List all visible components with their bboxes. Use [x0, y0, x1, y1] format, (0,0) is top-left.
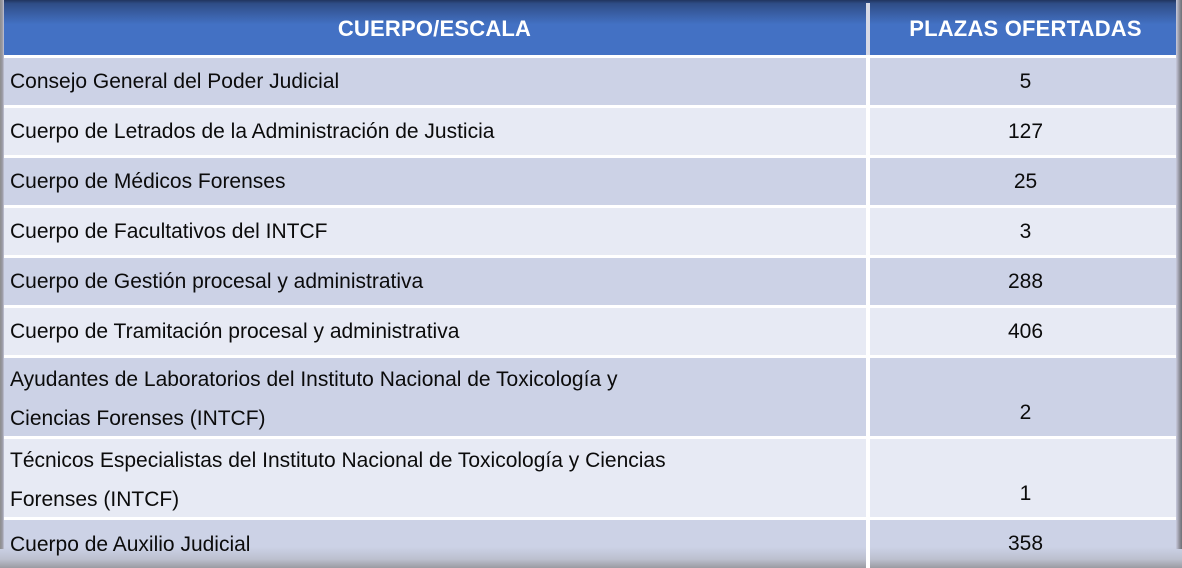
cell-text-line: Cuerpo de Letrados de la Administración … — [10, 112, 861, 152]
row-column-divider — [866, 520, 870, 568]
cell-plazas-ofertadas: 288 — [869, 258, 1182, 305]
plazas-table: CUERPO/ESCALA PLAZAS OFERTADAS Consejo G… — [0, 0, 1182, 549]
cell-plazas-ofertadas: 406 — [869, 308, 1182, 355]
cell-cuerpo-escala: Cuerpo de Médicos Forenses — [0, 158, 869, 205]
cell-plazas-ofertadas: 1 — [869, 439, 1182, 517]
table-container: CUERPO/ESCALA PLAZAS OFERTADAS Consejo G… — [0, 0, 1182, 568]
cell-plazas-ofertadas: 127 — [869, 108, 1182, 155]
cell-text-line: Consejo General del Poder Judicial — [10, 62, 861, 102]
cell-plazas-ofertadas: 25 — [869, 158, 1182, 205]
table-row[interactable]: Técnicos Especialistas del Instituto Nac… — [0, 439, 1182, 520]
row-column-divider — [866, 308, 870, 355]
cell-cuerpo-escala: Cuerpo de Letrados de la Administración … — [0, 108, 869, 155]
table-row[interactable]: Cuerpo de Facultativos del INTCF3 — [0, 208, 1182, 258]
cell-text-line: Forenses (INTCF) — [10, 480, 861, 519]
cell-cuerpo-escala: Cuerpo de Auxilio Judicial — [0, 520, 869, 568]
cell-cuerpo-escala: Ayudantes de Laboratorios del Instituto … — [0, 358, 869, 436]
cell-cuerpo-escala: Cuerpo de Tramitación procesal y adminis… — [0, 308, 869, 355]
table-row[interactable]: Cuerpo de Letrados de la Administración … — [0, 108, 1182, 158]
cell-text-line: Ayudantes de Laboratorios del Instituto … — [10, 360, 861, 399]
row-column-divider — [866, 108, 870, 155]
row-column-divider — [866, 58, 870, 105]
cell-plazas-ofertadas: 5 — [869, 58, 1182, 105]
cell-text-line: Cuerpo de Médicos Forenses — [10, 162, 861, 202]
table-row[interactable]: Cuerpo de Tramitación procesal y adminis… — [0, 308, 1182, 358]
table-row[interactable]: Cuerpo de Auxilio Judicial358 — [0, 520, 1182, 568]
table-row[interactable]: Cuerpo de Médicos Forenses25 — [0, 158, 1182, 208]
row-column-divider — [866, 358, 870, 436]
table-header-row: CUERPO/ESCALA PLAZAS OFERTADAS — [0, 0, 1182, 58]
cell-cuerpo-escala: Cuerpo de Gestión procesal y administrat… — [0, 258, 869, 305]
cell-cuerpo-escala: Técnicos Especialistas del Instituto Nac… — [0, 439, 869, 517]
cell-text-line: Cuerpo de Tramitación procesal y adminis… — [10, 312, 861, 352]
table-row[interactable]: Cuerpo de Gestión procesal y administrat… — [0, 258, 1182, 308]
table-row[interactable]: Ayudantes de Laboratorios del Instituto … — [0, 358, 1182, 439]
cell-plazas-ofertadas: 358 — [869, 520, 1182, 568]
row-column-divider — [866, 439, 870, 517]
column-header-plazas-ofertadas[interactable]: PLAZAS OFERTADAS — [869, 0, 1182, 58]
table-body: Consejo General del Poder Judicial5Cuerp… — [0, 58, 1182, 568]
row-column-divider — [866, 208, 870, 255]
row-column-divider — [866, 158, 870, 205]
cell-text-line: Cuerpo de Gestión procesal y administrat… — [10, 262, 861, 302]
cell-text-line: Técnicos Especialistas del Instituto Nac… — [10, 441, 861, 480]
header-column-divider — [866, 3, 870, 58]
cell-text-line: Cuerpo de Auxilio Judicial — [10, 525, 861, 565]
cell-plazas-ofertadas: 3 — [869, 208, 1182, 255]
cell-plazas-ofertadas: 2 — [869, 358, 1182, 436]
table-row[interactable]: Consejo General del Poder Judicial5 — [0, 58, 1182, 108]
cell-text-line: Cuerpo de Facultativos del INTCF — [10, 212, 861, 252]
cell-cuerpo-escala: Consejo General del Poder Judicial — [0, 58, 869, 105]
row-column-divider — [866, 258, 870, 305]
column-header-cuerpo-escala[interactable]: CUERPO/ESCALA — [0, 0, 869, 58]
cell-cuerpo-escala: Cuerpo de Facultativos del INTCF — [0, 208, 869, 255]
cell-text-line: Ciencias Forenses (INTCF) — [10, 399, 861, 438]
